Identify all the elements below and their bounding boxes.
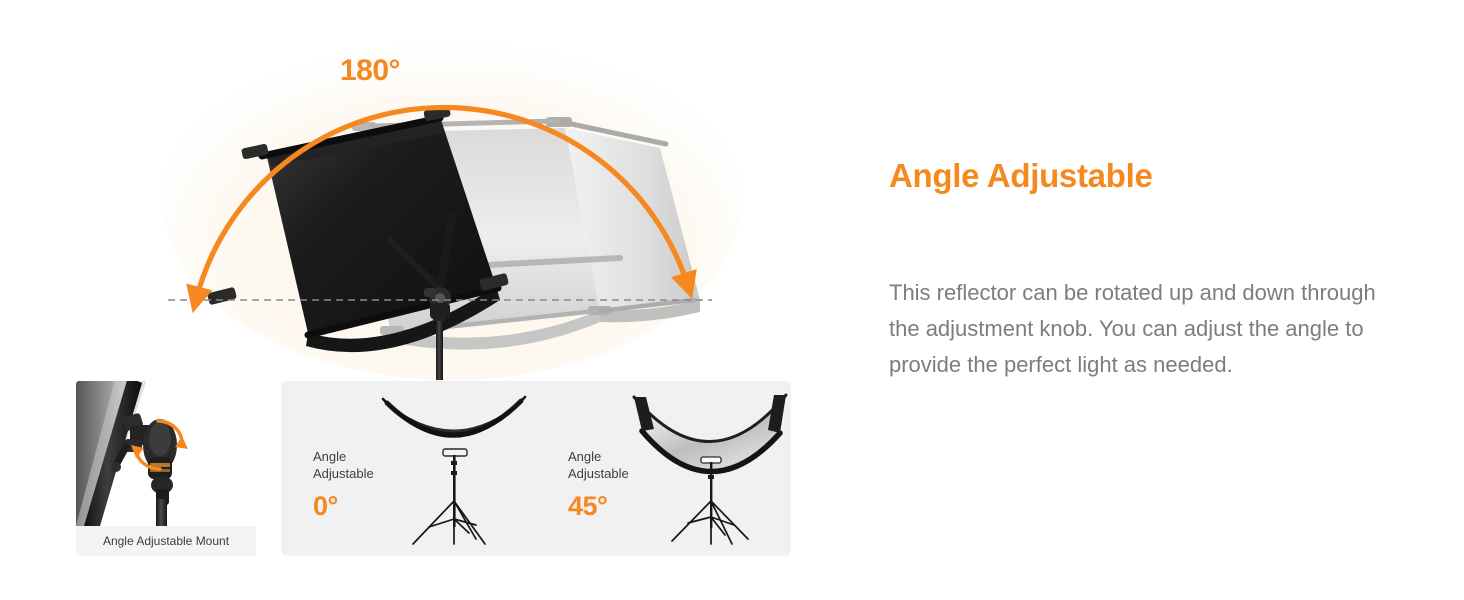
page-title: Angle Adjustable bbox=[889, 156, 1153, 196]
hero-diagram-svg bbox=[0, 0, 840, 380]
feature-description: This reflector can be rotated up and dow… bbox=[889, 275, 1401, 383]
reflector-0-degree-art bbox=[373, 389, 536, 549]
angle-adjustable-mount-inset: Angle Adjustable Mount bbox=[76, 381, 256, 556]
angle-variant-45: Angle Adjustable 45° bbox=[536, 381, 791, 556]
mount-closeup-photo bbox=[76, 381, 256, 526]
mount-closeup-svg bbox=[76, 381, 256, 526]
reflector-45-degree-art bbox=[628, 389, 791, 549]
hero-illustration: 180° bbox=[0, 0, 840, 380]
feature-text-column: Angle Adjustable This reflector can be r… bbox=[889, 0, 1409, 600]
mount-inset-caption: Angle Adjustable Mount bbox=[76, 526, 256, 556]
angle-variants-panel: Angle Adjustable 0° bbox=[281, 381, 791, 556]
angle-variant-0: Angle Adjustable 0° bbox=[281, 381, 536, 556]
rotation-degree-label: 180° bbox=[340, 56, 400, 86]
